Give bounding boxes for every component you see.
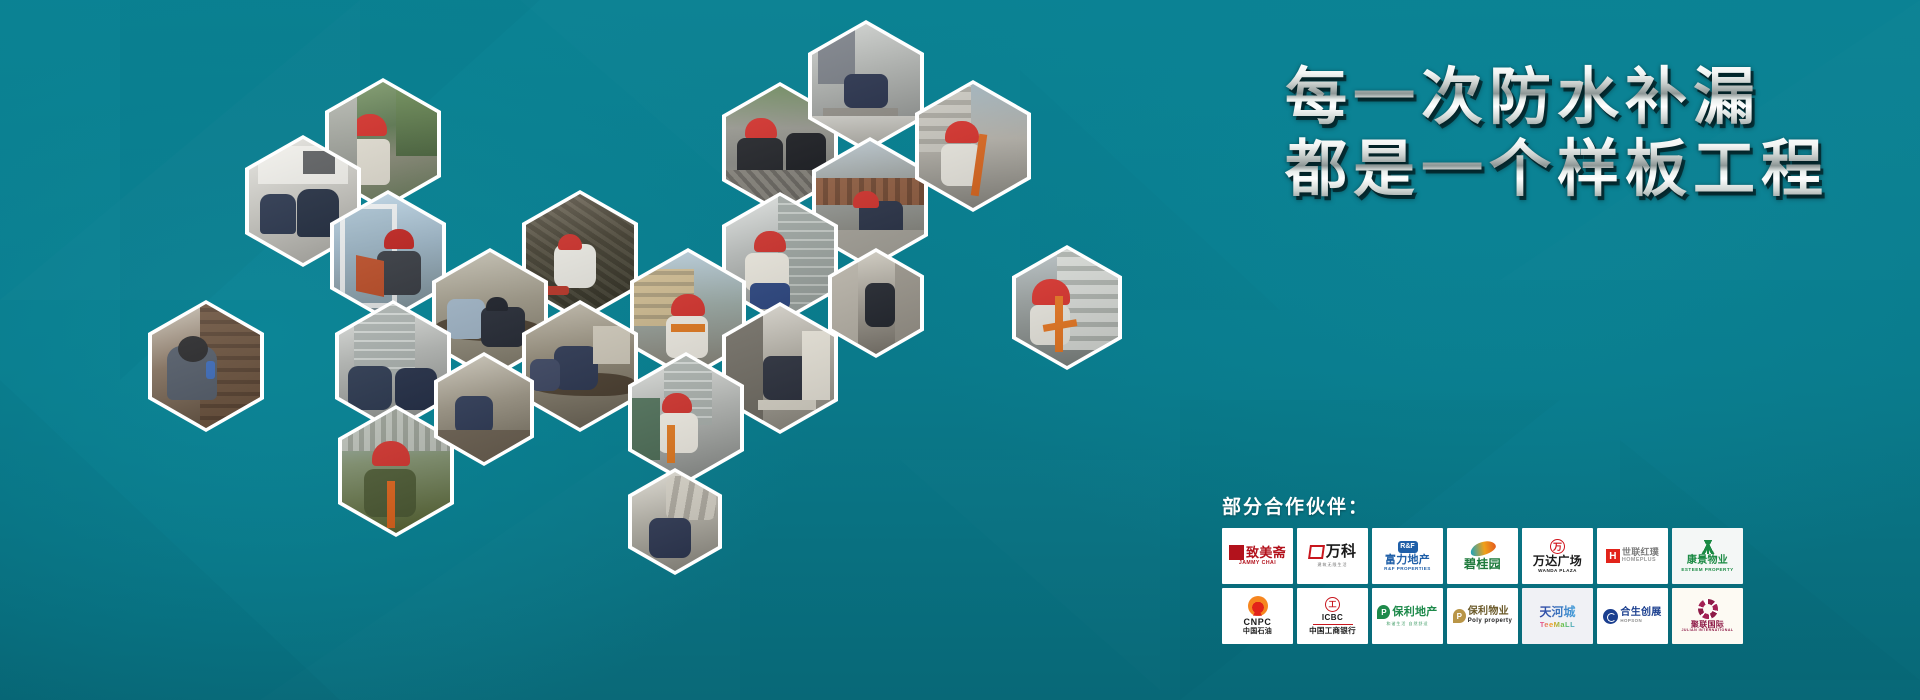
esteem-mountain-icon	[1698, 540, 1718, 554]
vanke-diamond-icon	[1308, 545, 1325, 559]
partner-logo-cnpc[interactable]: CNPC 中国石油	[1222, 588, 1293, 644]
partner-name-cn: 保利地产	[1392, 607, 1437, 619]
headline-line-1: 每一次防水补漏	[1285, 62, 1905, 134]
headline-line-2: 都是一个样板工程	[1285, 134, 1905, 206]
partner-name-en: CNPC	[1244, 618, 1272, 628]
partner-logo-icbc[interactable]: 工 ICBC 中国工商银行	[1297, 588, 1368, 644]
partner-name-en: TeeMaLL	[1540, 620, 1575, 629]
partner-logo-poly-property[interactable]: P 保利物业 Poly property	[1447, 588, 1518, 644]
partner-logo-country-garden[interactable]: 碧桂园	[1447, 528, 1518, 584]
partner-name-cn: 富力地产	[1385, 555, 1430, 567]
partner-logo-teemall[interactable]: 天河城 TeeMaLL	[1522, 588, 1593, 644]
partner-name-en: Poly property	[1468, 618, 1513, 625]
julian-petal-icon	[1698, 599, 1718, 619]
icbc-coin-icon: 工	[1325, 597, 1340, 612]
partner-name-cn: 万科	[1326, 544, 1357, 560]
partner-logo-homeplus[interactable]: H 世联红璞 HOMEPLUS	[1597, 528, 1668, 584]
partner-name-cn: 保利物业	[1468, 607, 1509, 618]
partner-logo-rf-properties[interactable]: R&F 富力地产 R&F PROPERTIES	[1372, 528, 1443, 584]
partner-logo-esteem-property[interactable]: 康景物业 ESTEEM PROPERTY	[1672, 528, 1743, 584]
poly-drop-icon: P	[1377, 605, 1390, 619]
partner-logo-hopson[interactable]: 合生创展 HOPSON	[1597, 588, 1668, 644]
homeplus-h-icon: H	[1606, 549, 1620, 563]
partner-name-en: R&F PROPERTIES	[1384, 566, 1431, 571]
partner-name-cn: 致美斋	[1246, 546, 1286, 560]
partner-tagline: 和谐生活 自然舒适	[1386, 622, 1428, 626]
partner-name-cn: 万达广场	[1533, 555, 1582, 568]
wanda-circle-icon: 万	[1550, 539, 1565, 554]
partners-title: 部分合作伙伴：	[1222, 492, 1743, 519]
partner-name-cn: 康景物业	[1687, 556, 1728, 567]
headline-block: 每一次防水补漏 都是一个样板工程	[1285, 62, 1905, 206]
partner-name-en: WANDA PLAZA	[1538, 568, 1577, 573]
partner-name-en: JULIAN INTERNATIONAL	[1681, 629, 1733, 633]
partner-logo-wanda-plaza[interactable]: 万 万达广场 WANDA PLAZA	[1522, 528, 1593, 584]
partner-name-en: JAMMY CHAI	[1239, 561, 1276, 567]
partner-tagline: 建筑无限生活	[1318, 563, 1348, 567]
partner-name-cn: 天河城	[1539, 603, 1575, 620]
partner-logo-julian-international[interactable]: 聚联国际 JULIAN INTERNATIONAL	[1672, 588, 1743, 644]
partners-section: 部分合作伙伴： 致美斋 JAMMY CHAI 万科 建筑无限生活 R&F 富力地	[1222, 492, 1743, 644]
partner-name-cn: 碧桂园	[1464, 558, 1501, 571]
partner-name-en: HOMEPLUS	[1622, 558, 1656, 564]
partner-logo-jammy-chai[interactable]: 致美斋 JAMMY CHAI	[1222, 528, 1293, 584]
poly-property-drop-icon: P	[1453, 609, 1466, 623]
partner-name-en: ESTEEM PROPERTY	[1681, 567, 1733, 572]
jammy-seal-icon	[1229, 545, 1244, 560]
partner-name-en: HOPSON	[1620, 619, 1642, 624]
rf-badge-icon: R&F	[1398, 541, 1418, 553]
partner-logo-grid: 致美斋 JAMMY CHAI 万科 建筑无限生活 R&F 富力地产 R&F PR…	[1222, 528, 1743, 644]
partner-name-en: ICBC	[1322, 614, 1343, 623]
cnpc-sun-icon	[1248, 596, 1268, 616]
country-garden-swoosh-icon	[1468, 538, 1497, 558]
promotional-banner: 每一次防水补漏 都是一个样板工程 部分合作伙伴： 致美斋 JAMMY CHAI …	[0, 0, 1920, 700]
partner-name-cn: 中国石油	[1243, 628, 1272, 635]
hopson-spiral-icon	[1603, 609, 1618, 624]
partner-logo-vanke[interactable]: 万科 建筑无限生活	[1297, 528, 1368, 584]
partner-name-cn: 中国工商银行	[1309, 627, 1356, 635]
partner-logo-poly-real-estate[interactable]: P 保利地产 和谐生活 自然舒适	[1372, 588, 1443, 644]
